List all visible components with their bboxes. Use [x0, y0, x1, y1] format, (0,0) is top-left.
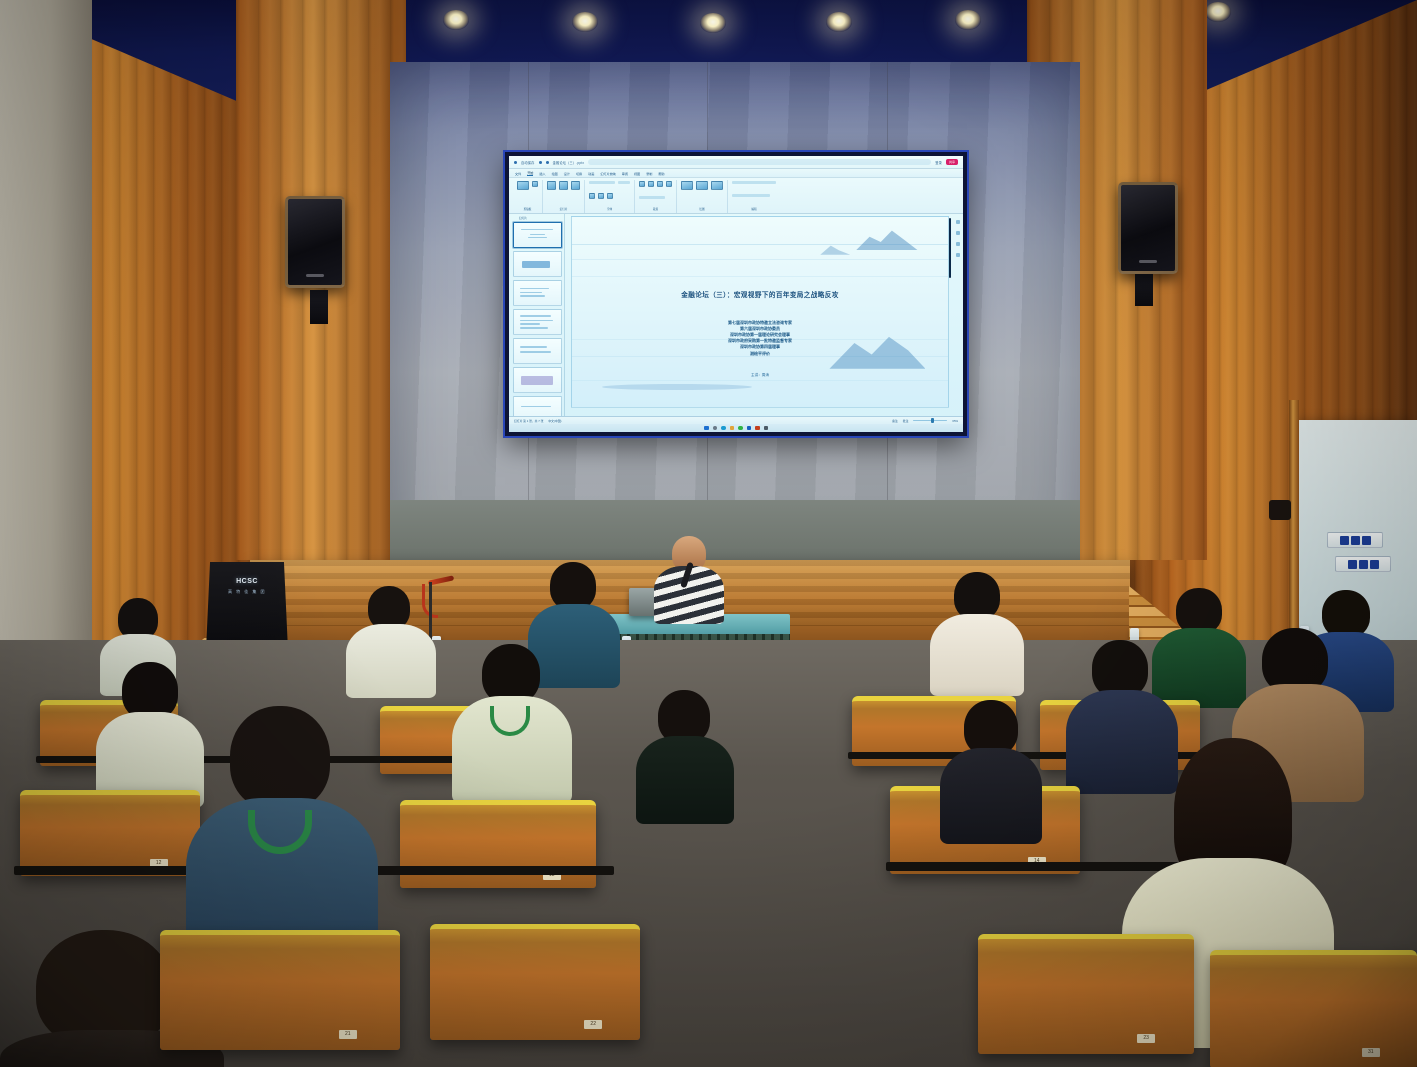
- presenter: [652, 536, 726, 622]
- align-icon[interactable]: [657, 181, 663, 187]
- cut-icon[interactable]: [532, 181, 538, 187]
- ribbon-group-label: 段落: [639, 207, 672, 211]
- seat-number-plate: 31: [1362, 1048, 1380, 1057]
- shapes-icon[interactable]: [681, 181, 693, 190]
- bold-icon[interactable]: [589, 193, 595, 199]
- ceiling-spotlight: [443, 10, 469, 30]
- slide-side-toolbar[interactable]: [955, 220, 961, 386]
- ribbon-tab[interactable]: 设计: [564, 171, 570, 176]
- ribbon-tab[interactable]: 帮助: [658, 171, 664, 176]
- edge-icon[interactable]: [721, 426, 726, 431]
- ceiling-spotlight: [955, 10, 981, 30]
- calculator-icon[interactable]: [764, 426, 769, 431]
- start-icon[interactable]: [704, 426, 709, 431]
- powerpoint-window: 自动保存 金融论坛（三）.pptx 登录 共享 文件 开始 插入 绘图 设计 切…: [509, 156, 963, 432]
- ceiling-spotlight: [700, 13, 726, 33]
- bullets-icon[interactable]: [639, 181, 645, 187]
- ribbon-tab-strip[interactable]: 文件 开始 插入 绘图 设计 切换 动画 幻灯片放映 审阅 视图 录制 帮助: [509, 169, 963, 178]
- auditorium-seat[interactable]: 21: [160, 930, 400, 1050]
- audience-member: [452, 644, 570, 800]
- projection-screen: 自动保存 金融论坛（三）.pptx 登录 共享 文件 开始 插入 绘图 设计 切…: [505, 152, 967, 436]
- file-name-label: 金融论坛（三）.pptx: [553, 160, 585, 165]
- ceiling-spotlight: [1205, 2, 1231, 22]
- slide-counter: 幻灯片 第 1 张，共 7 张: [514, 419, 543, 423]
- ribbon-group-label: 编辑: [732, 207, 776, 211]
- slide-credential-list: 第七届深圳市政协特邀立法咨询专家 第六届深圳市政协委员 深圳市政协第一届理论研究…: [572, 320, 948, 357]
- reset-icon[interactable]: [571, 181, 580, 190]
- audience-member: [346, 586, 434, 696]
- light-switch-row[interactable]: [1327, 532, 1383, 548]
- language-indicator[interactable]: 中文(中国): [548, 419, 561, 423]
- ribbon-group-paragraph: 段落: [635, 180, 677, 213]
- ink-mountain-top: [856, 228, 918, 250]
- ribbon-tab[interactable]: 视图: [634, 171, 640, 176]
- powerpoint-icon[interactable]: [755, 426, 760, 431]
- ribbon-group-slides: 幻灯片: [543, 180, 585, 213]
- format-pane-icon[interactable]: [956, 253, 960, 257]
- underline-icon[interactable]: [607, 193, 613, 199]
- ceiling-spotlight: [826, 12, 852, 32]
- notes-button[interactable]: 备注: [892, 419, 898, 423]
- credential-line: 测绘平评价: [572, 351, 948, 357]
- audience-member: [930, 572, 1022, 692]
- slide-thumbnail[interactable]: 4: [513, 309, 562, 335]
- zoom-slider[interactable]: [913, 420, 947, 421]
- slide-canvas-area: 金融论坛（三）：宏观视野下的百年变局之战略反攻 第七届深圳市政协特邀立法咨询专家…: [565, 214, 963, 416]
- auditorium-seat[interactable]: 23: [978, 934, 1194, 1054]
- share-button[interactable]: 共享: [946, 159, 958, 165]
- search-input[interactable]: [588, 159, 931, 165]
- animation-pane-icon[interactable]: [956, 242, 960, 246]
- door-handle[interactable]: [1269, 500, 1291, 520]
- ribbon-tab[interactable]: 幻灯片放映: [600, 171, 615, 176]
- explorer-icon[interactable]: [730, 426, 735, 431]
- audience-member: [186, 706, 376, 966]
- podium-logo-text: HCSC: [205, 578, 289, 585]
- audience-member: [940, 700, 1040, 840]
- ribbon-tab[interactable]: 绘图: [552, 171, 558, 176]
- italic-icon[interactable]: [598, 193, 604, 199]
- ribbon-group-drawing: 绘图: [677, 180, 728, 213]
- ribbon-group-label: 幻灯片: [547, 207, 580, 211]
- slide-thumbnail[interactable]: 5: [513, 338, 562, 364]
- auditorium-seat[interactable]: 31: [1210, 950, 1417, 1067]
- paste-icon[interactable]: [517, 181, 529, 190]
- slide-thumbnail[interactable]: 6: [513, 367, 562, 393]
- ribbon-tab[interactable]: 插入: [539, 171, 545, 176]
- ppt-workspace: 幻灯片 1 2 3: [509, 214, 963, 416]
- undo-icon[interactable]: [539, 161, 542, 164]
- ribbon-tab[interactable]: 动画: [588, 171, 594, 176]
- slide-thumbnail[interactable]: 3: [513, 280, 562, 306]
- speaker-mount-left: [310, 290, 328, 324]
- new-slide-icon[interactable]: [547, 181, 556, 190]
- ppt-status-bar: 幻灯片 第 1 张，共 7 张 中文(中国) 备注 批注 65%: [509, 416, 963, 424]
- ribbon-group-clipboard: 剪贴板: [513, 180, 543, 213]
- zoom-level-label[interactable]: 65%: [952, 419, 958, 423]
- photo-canvas: 自动保存 金融论坛（三）.pptx 登录 共享 文件 开始 插入 绘图 设计 切…: [0, 0, 1417, 1067]
- ink-wave: [602, 384, 752, 390]
- slide-title: 金融论坛（三）：宏观视野下的百年变局之战略反攻: [572, 289, 948, 299]
- light-switch-row[interactable]: [1335, 556, 1391, 572]
- seat-number-plate: 23: [1137, 1034, 1155, 1043]
- search-icon[interactable]: [713, 426, 718, 431]
- ribbon-tab[interactable]: 录制: [646, 171, 652, 176]
- slide-thumbnail[interactable]: 7: [513, 396, 562, 416]
- redo-icon[interactable]: [546, 161, 549, 164]
- current-slide[interactable]: 金融论坛（三）：宏观视野下的百年变局之战略反攻 第七届深圳市政协特邀立法咨询专家…: [571, 216, 949, 408]
- numbering-icon[interactable]: [648, 181, 654, 187]
- speaker-mount-right: [1135, 272, 1153, 306]
- ribbon-group-label: 字体: [589, 207, 630, 211]
- arrange-icon[interactable]: [696, 181, 708, 190]
- slide-thumbnail-panel[interactable]: 幻灯片 1 2 3: [509, 214, 565, 416]
- layout-icon[interactable]: [559, 181, 568, 190]
- wechat-icon[interactable]: [738, 426, 743, 431]
- slide-speaker-byline: 主讲：周涛: [572, 373, 948, 378]
- ceiling-spotlight: [572, 12, 598, 32]
- wall-corner-left: [0, 0, 92, 700]
- auditorium-seat[interactable]: 12: [20, 790, 200, 876]
- autosave-label[interactable]: 自动保存: [521, 160, 535, 165]
- comments-button[interactable]: 批注: [903, 419, 909, 423]
- seat-number-plate: 22: [584, 1020, 602, 1029]
- slide-thumbnail[interactable]: 2: [513, 251, 562, 277]
- ribbon-tab[interactable]: 切换: [576, 171, 582, 176]
- windows-taskbar[interactable]: [509, 424, 963, 432]
- ribbon-group-label: 剪贴板: [517, 207, 538, 211]
- slide-thumbnail[interactable]: 1: [513, 222, 562, 248]
- ribbon-group-editing: 编辑: [728, 180, 780, 213]
- ribbon-group-font: 字体: [585, 180, 635, 213]
- podium-logo-subtext: 高 特 佳 集 团: [205, 589, 289, 595]
- ribbon-group-label: 绘图: [681, 207, 723, 211]
- comments-icon[interactable]: [956, 231, 960, 235]
- thumbnail-panel-header: 幻灯片: [519, 216, 562, 220]
- ribbon-tab[interactable]: 审阅: [622, 171, 628, 176]
- save-icon[interactable]: [514, 161, 517, 164]
- design-ideas-icon[interactable]: [956, 220, 960, 224]
- quick-styles-icon[interactable]: [711, 181, 723, 190]
- audience-member: [636, 690, 732, 820]
- mail-icon[interactable]: [747, 426, 752, 431]
- account-label[interactable]: 登录: [935, 160, 942, 165]
- ribbon-body: 剪贴板 幻灯片 字体: [509, 178, 963, 214]
- seat-number-plate: 21: [339, 1030, 357, 1039]
- ppt-title-bar: 自动保存 金融论坛（三）.pptx 登录 共享: [509, 156, 963, 169]
- wall-speaker-right: [1118, 182, 1178, 274]
- auditorium-seat[interactable]: 22: [430, 924, 640, 1040]
- slide-scrollbar[interactable]: [949, 218, 951, 278]
- line-spacing-icon[interactable]: [666, 181, 672, 187]
- wall-speaker-left: [285, 196, 345, 288]
- ribbon-tab[interactable]: 文件: [515, 171, 521, 176]
- ribbon-tab[interactable]: 开始: [527, 170, 533, 176]
